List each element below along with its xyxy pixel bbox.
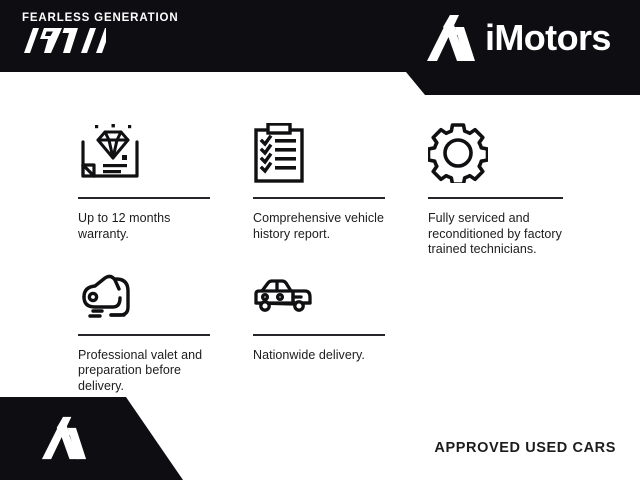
feature-label: Fully serviced and reconditioned by fact… <box>428 211 566 258</box>
divider-line <box>428 197 563 199</box>
feature-item-valet: Professional valet and preparation befor… <box>0 258 251 395</box>
gear-cog-icon <box>428 117 566 189</box>
feature-item-history-report: Comprehensive vehicle history report. <box>251 95 426 258</box>
feature-label: Up to 12 months warranty. <box>78 211 210 242</box>
imotors-logo-icon <box>425 13 477 63</box>
footer-accent-shape <box>0 397 190 480</box>
header-tagline: FEARLESS GENERATION <box>22 11 179 25</box>
imotors-wordmark: iMotors <box>485 18 611 58</box>
feature-item-warranty: Up to 12 months warranty. <box>0 95 251 258</box>
feature-label: Comprehensive vehicle history report. <box>253 211 385 242</box>
divider-line <box>78 334 210 336</box>
divider-line <box>253 197 385 199</box>
feature-item-delivery: Nationwide delivery. <box>251 258 426 395</box>
imotors-logo-icon <box>40 415 88 461</box>
feature-item-empty <box>426 258 603 395</box>
feature-item-serviced: Fully serviced and reconditioned by fact… <box>426 95 603 258</box>
features-grid: Up to 12 months warranty. <box>0 95 640 394</box>
warranty-diamond-card-icon <box>78 117 210 189</box>
clipboard-checklist-icon <box>253 117 385 189</box>
divider-line <box>78 197 210 199</box>
feature-label: Professional valet and preparation befor… <box>78 348 210 395</box>
header-brand: iMotors <box>425 13 611 63</box>
year-1971-logo <box>22 26 106 56</box>
footer-tagline: APPROVED USED CARS <box>434 440 616 456</box>
header-left-branding: FEARLESS GENERATION <box>22 11 179 61</box>
promo-banner: FEARLESS GENERATION iMotors <box>0 0 640 480</box>
car-transporter-truck-icon <box>253 264 385 326</box>
vacuum-cleaner-icon <box>78 264 210 326</box>
feature-label: Nationwide delivery. <box>253 348 385 364</box>
features-row-2: Professional valet and preparation befor… <box>0 258 640 395</box>
features-row-1: Up to 12 months warranty. <box>0 95 640 258</box>
divider-line <box>253 334 385 336</box>
